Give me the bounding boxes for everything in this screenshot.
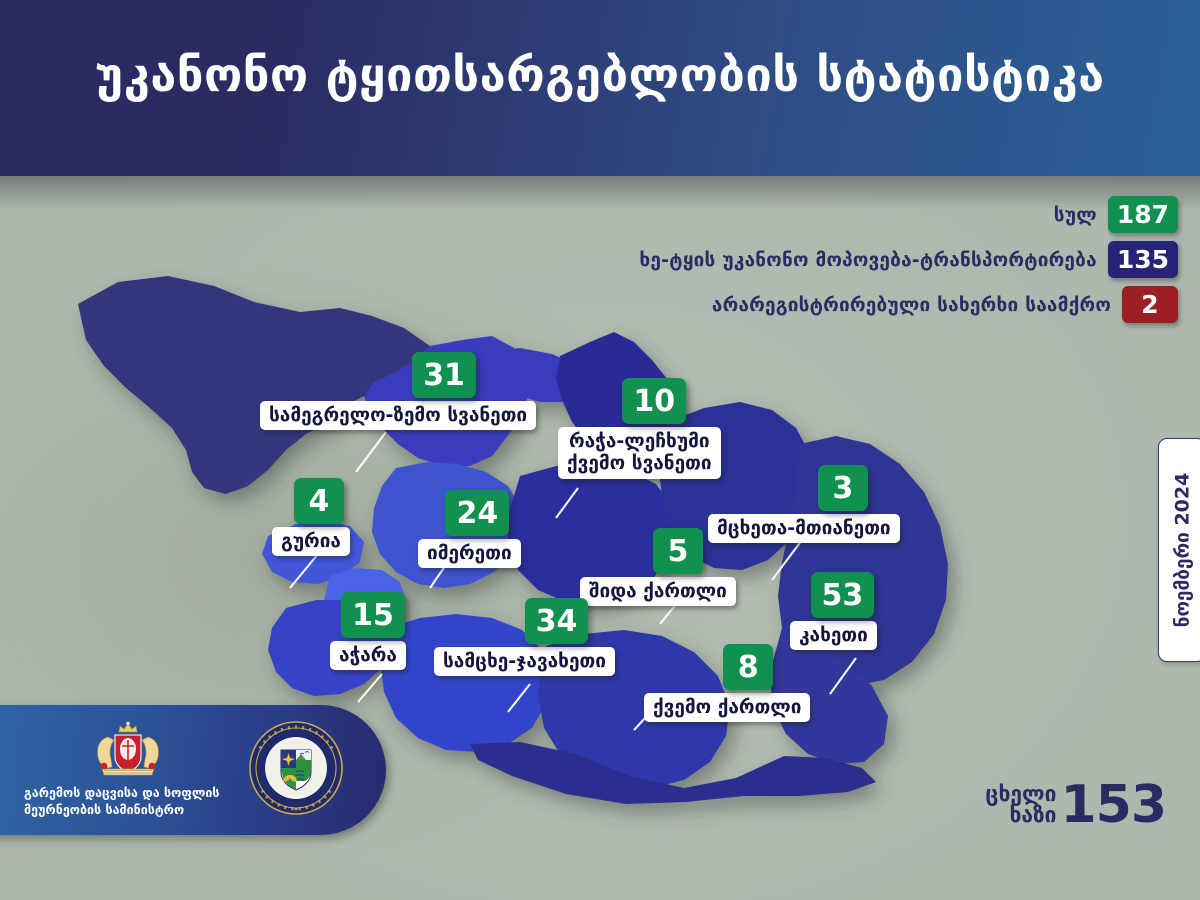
marker-count-kakheti: 53	[811, 572, 875, 618]
legend-value-sawmill: 2	[1122, 286, 1178, 323]
hotline-number: 153	[1060, 775, 1166, 835]
marker-count-imereti: 24	[445, 490, 509, 536]
legend-label-total: სულ	[1054, 204, 1097, 226]
marker-shidakartli[interactable]: 5 შიდა ქართლი	[620, 528, 736, 606]
marker-label-mtskheta: მცხეთა-მთიანეთი	[708, 514, 900, 543]
date-tab-label: ნოემბერი 2024	[1171, 473, 1193, 628]
marker-label-samegrelo: სამეგრელო-ზემო სვანეთი	[260, 401, 536, 430]
department-seal-icon	[248, 720, 344, 816]
marker-count-racha: 10	[622, 378, 686, 424]
marker-count-shidakartli: 5	[653, 528, 703, 574]
marker-samtskhe[interactable]: 34 სამცხე-ჯავახეთი	[498, 598, 615, 676]
legend-row-sawmill: არარეგისტრირებული სახერხი საამქრო 2	[712, 286, 1178, 323]
marker-count-samtskhe: 34	[525, 598, 589, 644]
page-title: უკანონო ტყითსარგებლობის სტატისტიკა	[0, 48, 1200, 103]
hotline: ცხელი ხაზი 153	[985, 775, 1166, 835]
marker-kakheti[interactable]: 53 კახეთი	[808, 572, 877, 650]
ministry-name: გარემოს დაცვისა და სოფლის მეურნეობის სამ…	[24, 785, 232, 819]
marker-mtskheta[interactable]: 3 მცხეთა-მთიანეთი	[786, 465, 900, 543]
legend-row-total: სულ 187	[1054, 196, 1178, 233]
marker-kvemokartli[interactable]: 8 ქვემო ქართლი	[686, 644, 810, 722]
marker-count-kvemokartli: 8	[723, 644, 773, 690]
marker-label-samtskhe: სამცხე-ჯავახეთი	[434, 647, 615, 676]
marker-imereti[interactable]: 24 იმერეთი	[434, 490, 521, 568]
legend: სულ 187 ხე-ტყის უკანონო მოპოვება-ტრანსპო…	[639, 196, 1178, 323]
hotline-label: ცხელი ხაზი	[985, 784, 1056, 827]
legend-label-logging: ხე-ტყის უკანონო მოპოვება-ტრანსპორტირება	[639, 249, 1096, 271]
marker-label-imereti: იმერეთი	[418, 539, 521, 568]
marker-samegrelo[interactable]: 31 სამეგრელო-ზემო სვანეთი	[352, 352, 536, 430]
marker-label-adjara: აჭარა	[330, 641, 406, 670]
date-tab: ნოემბერი 2024	[1158, 438, 1200, 662]
marker-label-kvemokartli: ქვემო ქართლი	[644, 693, 810, 722]
marker-label-guria: გურია	[272, 527, 350, 556]
georgia-coat-of-arms-icon	[84, 721, 172, 779]
marker-count-mtskheta: 3	[818, 465, 868, 511]
marker-label-racha: რაჭა-ლეჩხუმი ქვემო სვანეთი	[558, 427, 721, 479]
header-banner: უკანონო ტყითსარგებლობის სტატისტიკა	[0, 0, 1200, 176]
marker-count-guria: 4	[294, 478, 344, 524]
legend-row-logging: ხე-ტყის უკანონო მოპოვება-ტრანსპორტირება …	[639, 241, 1178, 278]
marker-count-samegrelo: 31	[412, 352, 476, 398]
legend-label-sawmill: არარეგისტრირებული სახერხი საამქრო	[712, 294, 1111, 316]
marker-racha[interactable]: 10 რაჭა-ლეჩხუმი ქვემო სვანეთი	[588, 378, 721, 479]
marker-guria[interactable]: 4 გურია	[288, 478, 350, 556]
marker-count-adjara: 15	[341, 592, 405, 638]
marker-adjara[interactable]: 15 აჭარა	[340, 592, 406, 670]
ministry-banner: გარემოს დაცვისა და სოფლის მეურნეობის სამ…	[0, 705, 386, 835]
legend-value-logging: 135	[1108, 241, 1178, 278]
legend-value-total: 187	[1108, 196, 1178, 233]
